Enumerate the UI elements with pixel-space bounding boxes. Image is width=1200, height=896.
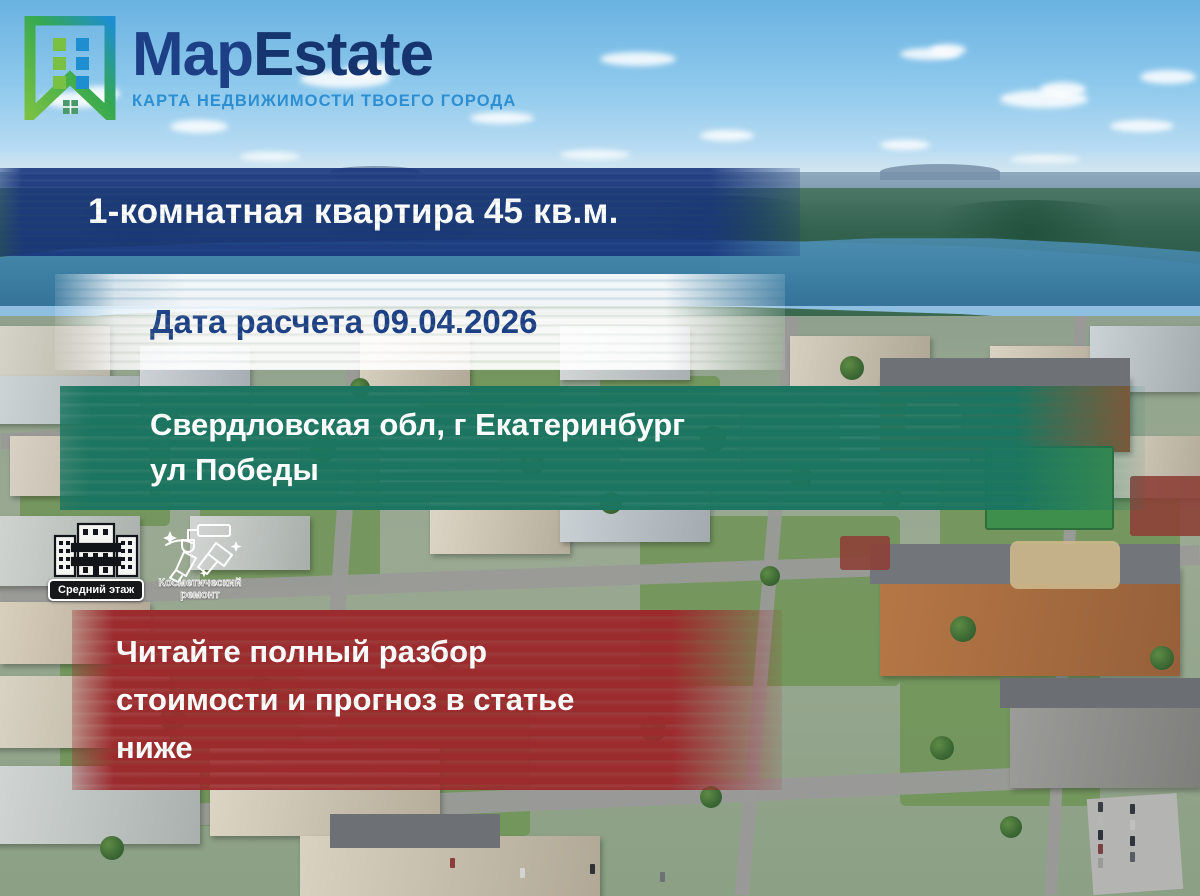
badge-middle-floor-label: Средний этаж (48, 579, 144, 601)
brand-wordmark: MapEstate КАРТА НЕДВИЖИМОСТИ ТВОЕГО ГОРО… (132, 16, 516, 111)
brand-tagline: КАРТА НЕДВИЖИМОСТИ ТВОЕГО ГОРОДА (132, 92, 516, 111)
promo-card: MapEstate КАРТА НЕДВИЖИМОСТИ ТВОЕГО ГОРО… (0, 0, 1200, 896)
badge-renovation-label-line1: Косметический (152, 577, 248, 589)
calculation-date: Дата расчета 09.04.2026 (55, 303, 785, 341)
bookmark-building-icon (22, 16, 118, 120)
feature-badges: Средний этаж (48, 520, 248, 601)
address-line-street: ул Победы (150, 448, 1145, 493)
cta-band: Читайте полный разбор стоимости и прогно… (72, 610, 782, 790)
cta-line-1: Читайте полный разбор (116, 628, 782, 676)
brand-name-map: Map (132, 20, 253, 89)
property-title: 1-комнатная квартира 45 кв.м. (0, 192, 800, 232)
paint-roller-brush-icon (154, 521, 246, 583)
badge-renovation-label-line2: ремонт (152, 589, 248, 601)
apartment-building-icon (50, 520, 142, 580)
address-line-region-city: Свердловская обл, г Екатеринбург (150, 403, 1145, 448)
brand-logo[interactable]: MapEstate КАРТА НЕДВИЖИМОСТИ ТВОЕГО ГОРО… (22, 16, 516, 120)
cta-line-2: стоимости и прогноз в статье (116, 676, 782, 724)
calculation-date-band: Дата расчета 09.04.2026 (55, 274, 785, 370)
cta-line-3: ниже (116, 724, 782, 772)
badge-cosmetic-renovation[interactable]: Косметический ремонт (152, 521, 248, 601)
title-band: 1-комнатная квартира 45 кв.м. (0, 168, 800, 256)
badge-middle-floor[interactable]: Средний этаж (48, 520, 144, 601)
address-band: Свердловская обл, г Екатеринбург ул Побе… (60, 386, 1145, 510)
brand-name-estate: Estate (253, 20, 433, 89)
